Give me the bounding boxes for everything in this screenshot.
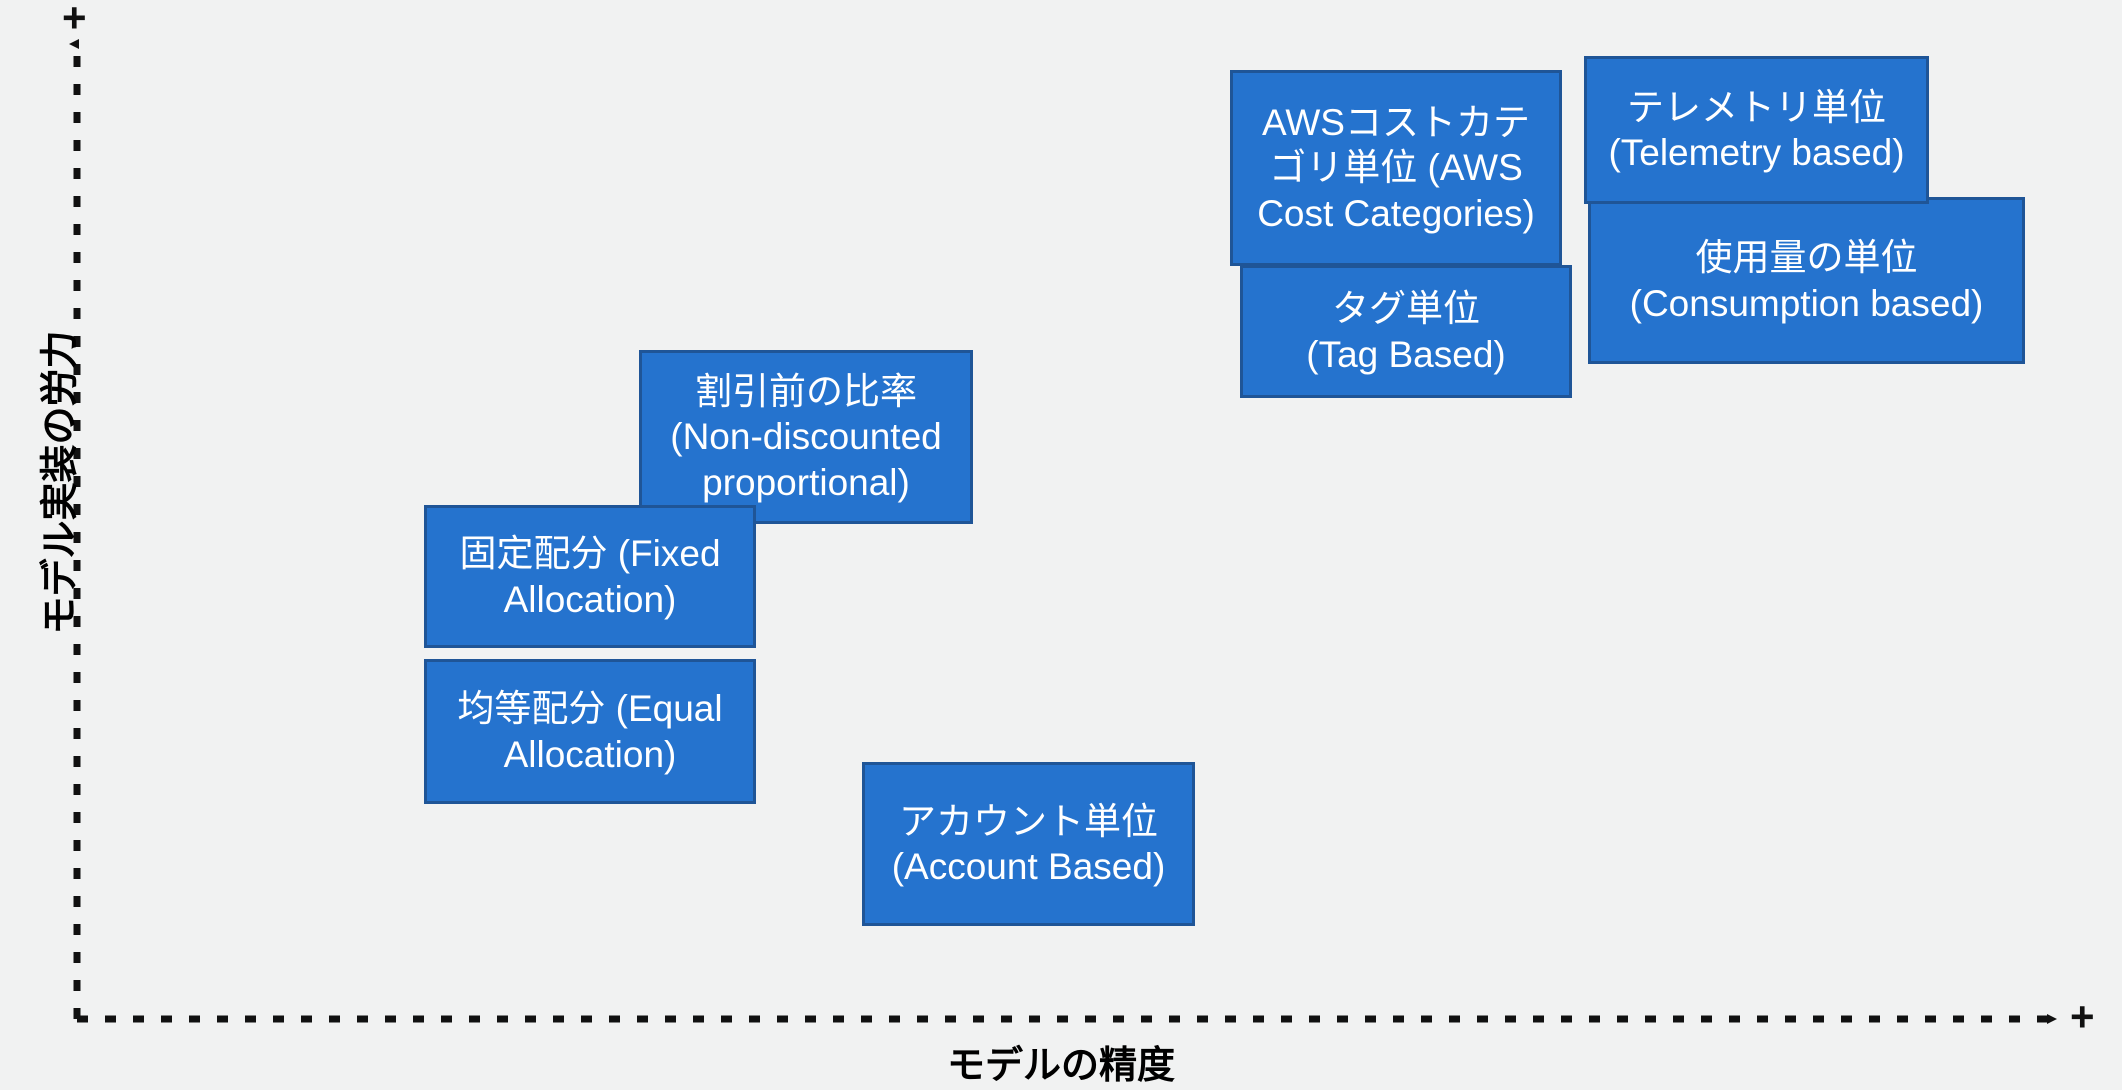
box-fixed-allocation[interactable]: 固定配分 (Fixed Allocation) <box>424 505 756 648</box>
x-axis-plus-marker: + <box>2070 996 2095 1038</box>
box-non-discounted-proportional[interactable]: 割引前の比率 (Non-discounted proportional) <box>639 350 973 524</box>
x-axis-label: モデルの精度 <box>0 1034 2122 1089</box>
box-account-based[interactable]: アカウント単位 (Account Based) <box>862 762 1195 926</box>
box-equal-allocation[interactable]: 均等配分 (Equal Allocation) <box>424 659 756 804</box>
box-label: 使用量の単位 (Consumption based) <box>1597 235 2016 325</box>
y-axis-label: モデル実装の労力 <box>29 283 84 683</box>
box-tag-based[interactable]: タグ単位 (Tag Based) <box>1240 265 1572 398</box>
box-label: アカウント単位 (Account Based) <box>871 799 1186 889</box>
diagram-canvas: + + モデル実装の労力 モデルの精度 均等配分 (Equal Allocati… <box>0 0 2122 1090</box>
box-aws-cost-categories[interactable]: AWSコストカテ ゴリ単位 (AWS Cost Categories) <box>1230 70 1562 266</box>
y-axis-plus-marker: + <box>62 0 87 39</box>
box-label: タグ単位 (Tag Based) <box>1249 286 1563 376</box>
box-label: 固定配分 (Fixed Allocation) <box>433 531 747 621</box>
box-label: 割引前の比率 (Non-discounted proportional) <box>648 369 964 504</box>
box-consumption-based[interactable]: 使用量の単位 (Consumption based) <box>1588 197 2025 364</box>
box-label: AWSコストカテ ゴリ単位 (AWS Cost Categories) <box>1239 100 1553 235</box>
box-label: 均等配分 (Equal Allocation) <box>433 686 747 776</box>
box-label: テレメトリ単位 (Telemetry based) <box>1593 85 1920 175</box>
box-telemetry-based[interactable]: テレメトリ単位 (Telemetry based) <box>1584 56 1929 204</box>
